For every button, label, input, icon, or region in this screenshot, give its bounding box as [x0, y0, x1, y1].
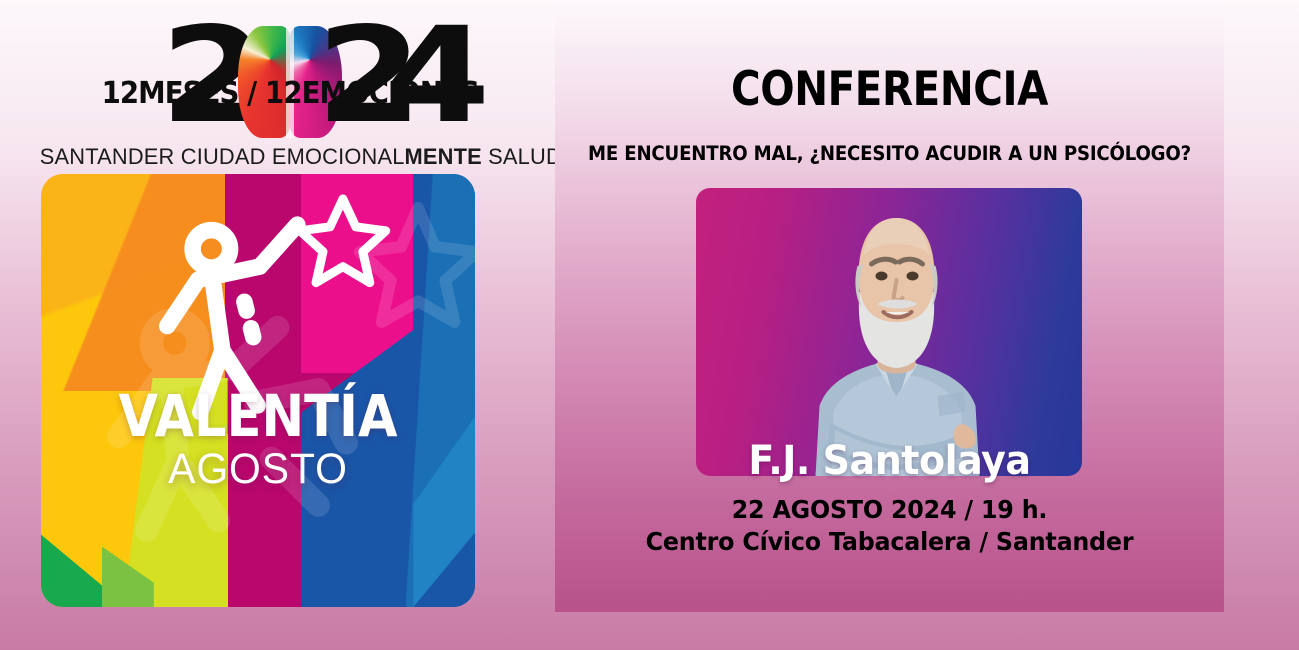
speaker-portrait — [772, 200, 1022, 476]
event-panel: CONFERENCIA ME ENCUENTRO MAL, ¿NECESITO … — [555, 0, 1224, 612]
event-venue: Centro Cívico Tabacalera / Santander — [572, 527, 1208, 556]
poster-root: 2 2 4 12MESES / 12EMOCIONES SANTANDER CI… — [0, 0, 1299, 650]
speaker-photo-card — [696, 188, 1082, 476]
emotion-label: VALENTÍA — [67, 382, 449, 450]
tagline-part-bold: MENTE — [405, 144, 482, 169]
brand-tagline: SANTANDER CIUDAD EMOCIONALMENTE SALUDABL… — [40, 144, 477, 170]
event-type-title: CONFERENCIA — [602, 62, 1177, 117]
event-subtitle: ME ENCUENTRO MAL, ¿NECESITO ACUDIR A UN … — [578, 142, 1200, 165]
month-label: AGOSTO — [52, 445, 464, 494]
logo-strapline: 12MESES / 12EMOCIONES — [102, 76, 415, 111]
speaker-name: F.J. Santolaya — [572, 438, 1208, 484]
left-branding-side: 2 2 4 12MESES / 12EMOCIONES SANTANDER CI… — [0, 0, 555, 650]
tagline-part-1: SANTANDER CIUDAD EMOCIONAL — [40, 144, 405, 169]
event-date: 22 AGOSTO 2024 / 19 h. — [572, 495, 1208, 524]
logo-2024-graphic: 2 2 4 12MESES / 12EMOCIONES — [88, 18, 428, 138]
month-emotion-card: VALENTÍA AGOSTO — [41, 174, 475, 607]
brand-logo: 2 2 4 12MESES / 12EMOCIONES SANTANDER CI… — [33, 18, 483, 168]
